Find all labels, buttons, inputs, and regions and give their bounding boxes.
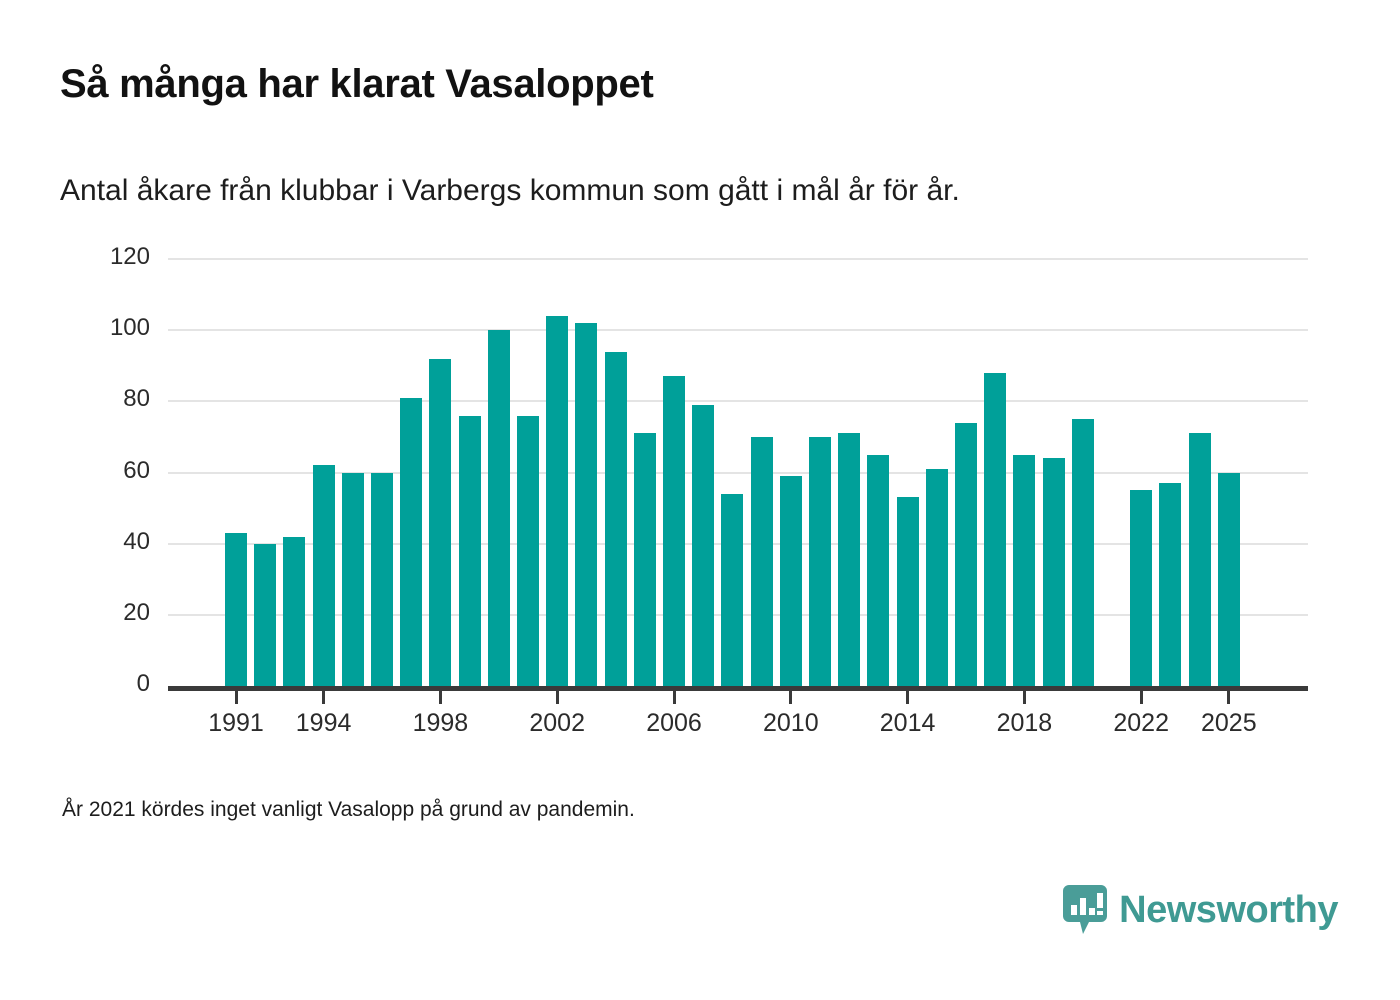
- bar: [897, 497, 919, 686]
- bar: [459, 416, 481, 686]
- x-axis-tick: [906, 691, 909, 704]
- x-axis-tick: [789, 691, 792, 704]
- bar: [1218, 473, 1240, 687]
- x-axis-tick-label: 1994: [296, 709, 352, 738]
- x-axis-tick-label: 2025: [1201, 709, 1257, 738]
- bars-group: [0, 0, 1400, 686]
- bar: [371, 473, 393, 687]
- x-axis-tick-label: 2006: [646, 709, 702, 738]
- bar: [575, 323, 597, 686]
- bar: [721, 494, 743, 686]
- x-axis-tick: [1140, 691, 1143, 704]
- x-axis-tick-label: 2014: [880, 709, 936, 738]
- newsworthy-logo: Newsworthy: [1063, 885, 1338, 935]
- x-axis-tick: [439, 691, 442, 704]
- chart-footnote: År 2021 kördes inget vanligt Vasalopp på…: [62, 798, 635, 822]
- bar: [254, 544, 276, 686]
- x-axis-tick-label: 1991: [208, 709, 264, 738]
- bar: [1159, 483, 1181, 686]
- bar: [313, 465, 335, 686]
- bar: [225, 533, 247, 686]
- bar: [838, 433, 860, 686]
- bar: [1189, 433, 1211, 686]
- bar: [1072, 419, 1094, 686]
- x-axis-tick: [556, 691, 559, 704]
- x-axis-tick: [1023, 691, 1026, 704]
- bar: [342, 473, 364, 687]
- bar: [809, 437, 831, 686]
- x-axis-tick: [673, 691, 676, 704]
- bar: [634, 433, 656, 686]
- x-axis-tick-label: 2022: [1113, 709, 1169, 738]
- bar: [780, 476, 802, 686]
- bar: [955, 423, 977, 686]
- bar: [429, 359, 451, 686]
- x-axis-tick-label: 2018: [997, 709, 1053, 738]
- bar: [984, 373, 1006, 686]
- speech-bubble-bar-chart-icon: [1063, 885, 1107, 935]
- bar: [663, 376, 685, 686]
- bar: [605, 352, 627, 686]
- bar: [1013, 455, 1035, 686]
- bar: [1130, 490, 1152, 686]
- bar: [283, 537, 305, 686]
- chart-page: Så många har klarat Vasaloppet Antal åka…: [0, 0, 1400, 1000]
- bar: [546, 316, 568, 686]
- bar: [926, 469, 948, 686]
- brand-name: Newsworthy: [1119, 889, 1338, 932]
- bar: [517, 416, 539, 686]
- x-axis-tick-label: 2002: [529, 709, 585, 738]
- x-axis-tick: [1227, 691, 1230, 704]
- x-axis-line: [168, 686, 1308, 691]
- x-axis-tick-label: 2010: [763, 709, 819, 738]
- bar: [867, 455, 889, 686]
- x-axis-tick: [235, 691, 238, 704]
- bar: [400, 398, 422, 686]
- bar: [751, 437, 773, 686]
- x-axis-tick-label: 1998: [413, 709, 469, 738]
- bar: [692, 405, 714, 686]
- bar: [1043, 458, 1065, 686]
- chart-plot-area: 020406080100120 199119941998200220062010…: [0, 0, 1400, 1000]
- x-axis-tick: [322, 691, 325, 704]
- bar: [488, 330, 510, 686]
